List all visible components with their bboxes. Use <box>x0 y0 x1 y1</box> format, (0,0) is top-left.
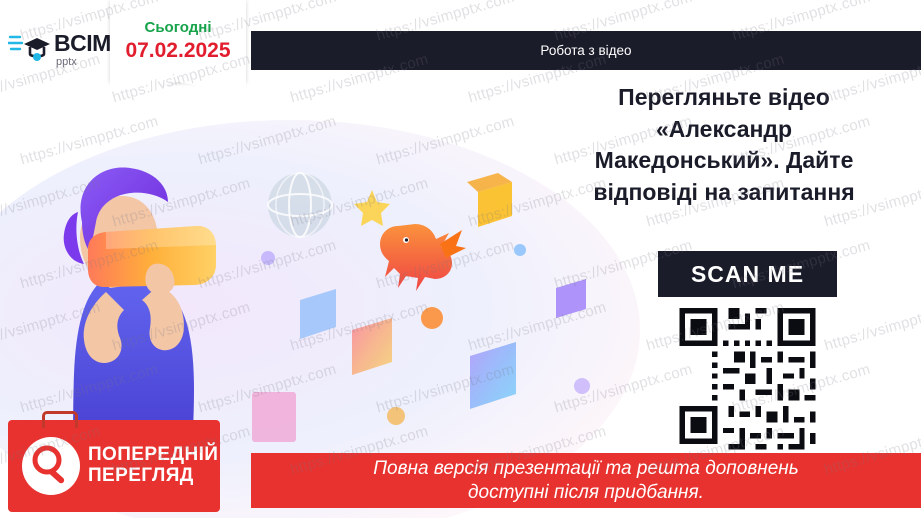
slide-header-band: Робота з відео <box>251 31 921 70</box>
date-badge-value: 07.02.2025 <box>125 39 230 63</box>
qr-code-icon[interactable] <box>658 297 837 455</box>
qr-card[interactable]: SCAN ME <box>658 251 837 455</box>
presentation-slide: Робота з відео BCIM pptx Сьогодні 07.02.… <box>0 0 921 518</box>
slide-header-title: Робота з відео <box>251 31 921 70</box>
instruction-text: Перегляньте відео «Александр Македонськи… <box>548 82 900 208</box>
graduation-cap-icon <box>8 33 50 67</box>
preview-stamp-line-2: ПЕРЕГЛЯД <box>88 466 218 487</box>
date-badge-label: Сьогодні <box>145 19 212 36</box>
preview-stamp-text: ПОПЕРЕДНІЙ ПЕРЕГЛЯД <box>88 445 218 486</box>
brand-logo-text: BCIM pptx <box>54 32 111 68</box>
purchase-notice-line-1: Повна версія презентації та решта доповн… <box>373 457 798 480</box>
instruction-line-2: «Александр <box>548 114 900 146</box>
instruction-line-1: Перегляньте відео <box>548 82 900 114</box>
stamp-clip-decoration <box>42 411 78 428</box>
purchase-notice-line-2: доступні після придбання. <box>468 481 704 504</box>
slide-canvas: Робота з відео BCIM pptx Сьогодні 07.02.… <box>0 0 921 518</box>
brand-title: BCIM <box>54 32 111 55</box>
purchase-notice-banner: Повна версія презентації та решта доповн… <box>251 453 921 508</box>
preview-stamp: ПОПЕРЕДНІЙ ПЕРЕГЛЯД <box>8 420 220 512</box>
preview-stamp-line-1: ПОПЕРЕДНІЙ <box>88 445 218 466</box>
date-badge: Сьогодні 07.02.2025 <box>110 0 246 82</box>
instruction-line-4: відповіді на запитання <box>548 177 900 209</box>
qr-card-title: SCAN ME <box>658 251 837 297</box>
brand-subtitle: pptx <box>56 57 111 68</box>
magnifier-icon <box>20 435 82 497</box>
instruction-line-3: Македонський». Дайте <box>548 145 900 177</box>
